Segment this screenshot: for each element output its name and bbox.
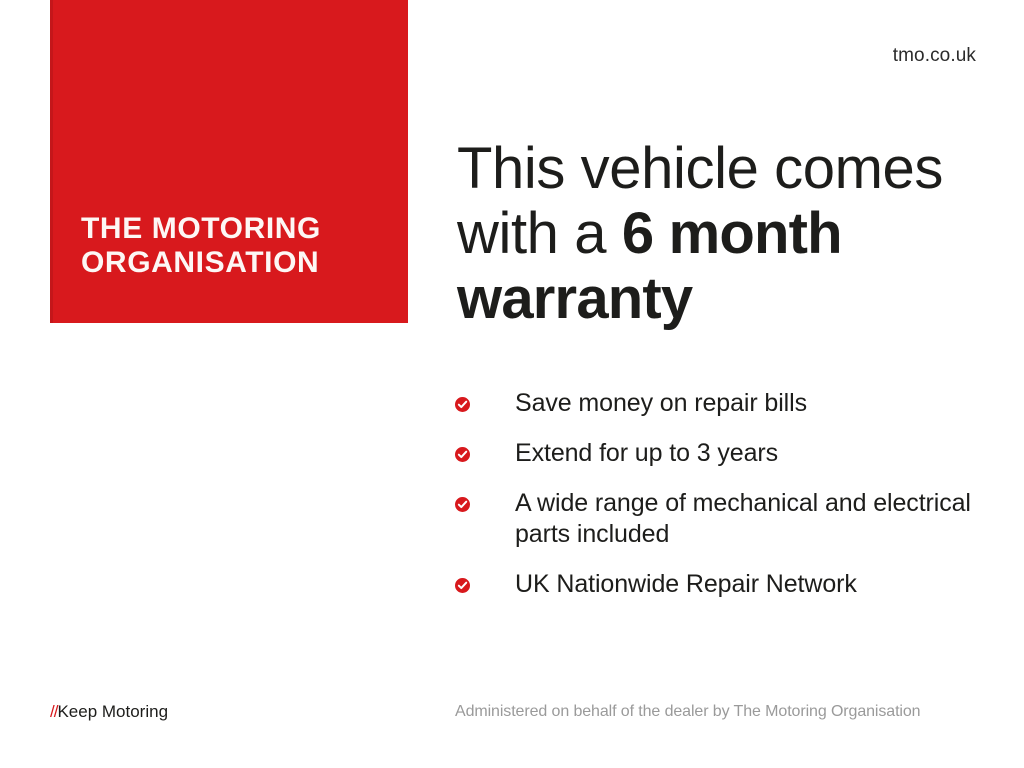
headline-line-3: warranty xyxy=(457,266,987,331)
check-circle-icon xyxy=(455,397,470,412)
headline-line-1: This vehicle comes xyxy=(457,136,987,201)
list-item: UK Nationwide Repair Network xyxy=(455,569,975,600)
footer-tagline: //Keep Motoring xyxy=(50,702,168,722)
headline-line-2-light-text: with a xyxy=(457,201,622,266)
list-item-label: UK Nationwide Repair Network xyxy=(515,569,975,600)
list-item-label: Save money on repair bills xyxy=(515,388,975,419)
brand-wordmark-line-2: ORGANISATION xyxy=(81,246,391,280)
headline-line-1-text: This vehicle comes xyxy=(457,136,943,201)
list-item-label: A wide range of mechanical and electrica… xyxy=(515,488,975,550)
page-title: This vehicle comes with a 6 month warran… xyxy=(457,136,987,331)
check-circle-icon xyxy=(455,578,470,593)
list-item: Extend for up to 3 years xyxy=(455,438,975,469)
brand-logo-block: THE MOTORING ORGANISATION xyxy=(50,0,408,323)
footer-tagline-label: Keep Motoring xyxy=(57,702,168,721)
brand-wordmark: THE MOTORING ORGANISATION xyxy=(81,212,391,280)
headline-line-3-strong-text: warranty xyxy=(457,266,692,331)
list-item-label: Extend for up to 3 years xyxy=(515,438,975,469)
check-circle-icon xyxy=(455,447,470,462)
brand-wordmark-line-1: THE MOTORING xyxy=(81,212,391,246)
site-url: tmo.co.uk xyxy=(893,45,976,67)
check-circle-icon xyxy=(455,497,470,512)
footer-administered-note: Administered on behalf of the dealer by … xyxy=(455,702,921,721)
list-item: Save money on repair bills xyxy=(455,388,975,419)
benefits-list: Save money on repair bills Extend for up… xyxy=(455,388,975,600)
list-item: A wide range of mechanical and electrica… xyxy=(455,488,975,550)
headline-line-2: with a 6 month xyxy=(457,201,987,266)
warranty-banner: tmo.co.uk THE MOTORING ORGANISATION This… xyxy=(0,0,1024,768)
headline-line-2-strong-text: 6 month xyxy=(622,201,842,266)
